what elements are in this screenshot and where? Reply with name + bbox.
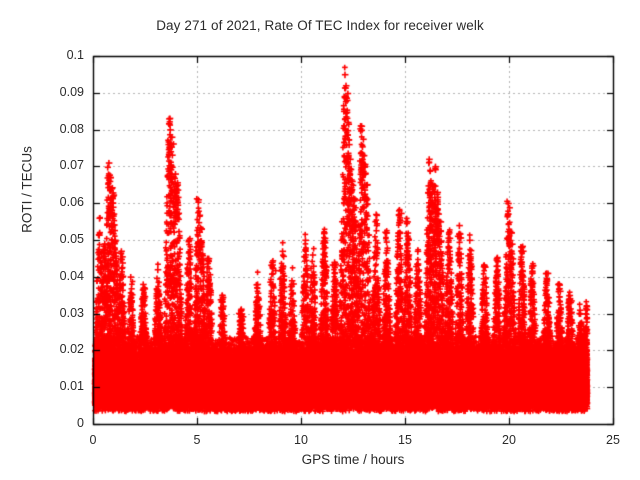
x-tick-label: 15 [385,433,425,447]
roti-scatter-figure: Day 271 of 2021, Rate Of TEC Index for r… [0,0,640,480]
x-tick-label: 0 [73,433,113,447]
y-tick-label: 0.1 [24,48,84,62]
plot-canvas [0,0,640,480]
y-tick-label: 0.07 [24,158,84,172]
y-tick-label: 0.04 [24,269,84,283]
x-tick-label: 25 [593,433,633,447]
x-tick-label: 10 [281,433,321,447]
y-tick-label: 0.06 [24,195,84,209]
y-tick-label: 0.05 [24,232,84,246]
y-tick-label: 0.02 [24,342,84,356]
x-axis-label: GPS time / hours [93,452,613,467]
y-tick-label: 0.03 [24,306,84,320]
y-tick-label: 0.01 [24,379,84,393]
y-tick-label: 0.08 [24,122,84,136]
y-tick-label: 0.09 [24,85,84,99]
y-tick-label: 0 [24,416,84,430]
x-tick-label: 5 [177,433,217,447]
x-tick-label: 20 [489,433,529,447]
